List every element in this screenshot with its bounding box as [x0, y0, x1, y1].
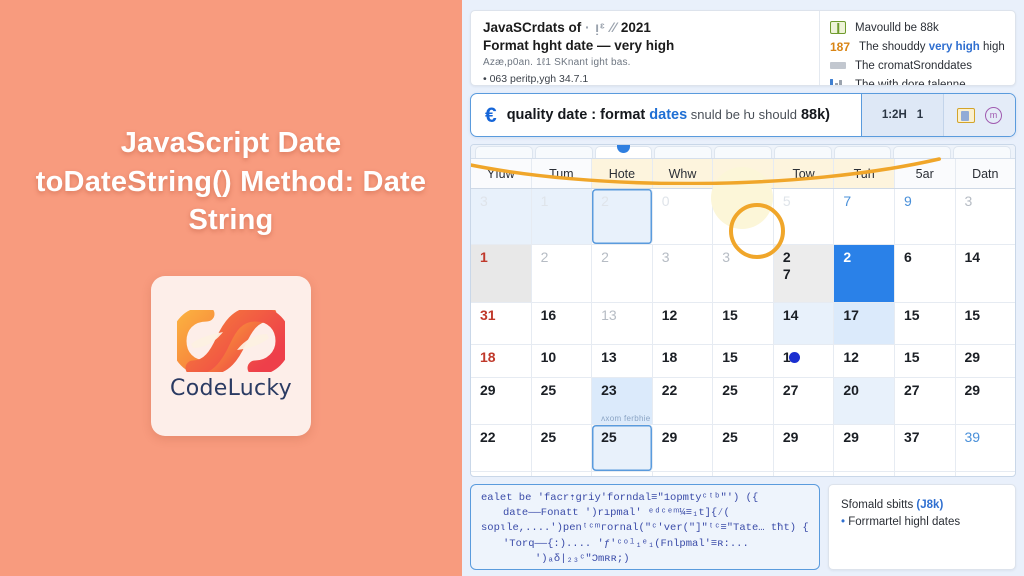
calendar-day-cell[interactable]: 17: [834, 303, 895, 344]
calendar-day-number: 2: [601, 193, 609, 209]
calendar-day-number: 13: [601, 349, 617, 365]
calendar-day-number: 18: [480, 349, 496, 365]
calendar-day-cell[interactable]: 2: [834, 245, 895, 302]
side-item-highlight: very high: [929, 41, 980, 53]
calendar-day-cell[interactable]: 25: [532, 425, 593, 471]
side-item-label: Mavoulld be 88k: [855, 22, 939, 34]
note-card-title: Sfomald sbitts (J8k): [841, 499, 1005, 511]
code-snippet-box[interactable]: ealet be 'facr⇡griy'forndal≡"1opmtyᶜᵗᵇ"'…: [470, 484, 820, 570]
calendar-day-number: 25: [722, 429, 738, 445]
side-list-item[interactable]: Mavoulld be 88k: [828, 19, 1009, 36]
side-item-label: The with dore talenne...: [855, 79, 975, 87]
calendar-day-cell[interactable]: 3: [471, 189, 532, 244]
calendar-day-number: 3: [662, 249, 670, 265]
top-card-meta: Azæ,p0an. 1ℓ1 SKnant ight bas.: [483, 57, 809, 68]
calendar-day-cell[interactable]: 29: [956, 345, 1016, 377]
calendar-day-cell[interactable]: 20: [653, 472, 714, 477]
code-line: ealet be 'facr⇡griy'forndal≡"1opmtyᶜᵗᵇ"'…: [481, 491, 809, 506]
side-item-label: The shouddy very high high: [859, 41, 1005, 53]
calendar-day-number: 39: [601, 476, 617, 477]
note-card: Sfomald sbitts (J8k) Forrmartel highl da…: [828, 484, 1016, 570]
calendar-day-cell[interactable]: 0: [653, 189, 714, 244]
note-title-text: Sfomald sbitts: [841, 499, 916, 511]
calendar-grid[interactable]: Yıuw Tum Hote Whw Now Tow Tuh 5ar Datn 3…: [470, 144, 1016, 477]
top-info-card: JavaSCrdats of · ᴉᵋ ⁄⁄ 2021 Format hght …: [470, 10, 1016, 86]
brand-logo-card: CodeLucky: [151, 276, 311, 436]
calendar-day-cell[interactable]: 2: [532, 245, 593, 302]
calendar-col-header[interactable]: Tow: [774, 159, 835, 188]
calendar-day-number: 3: [480, 193, 488, 209]
calendar-day-cell[interactable]: 8: [834, 472, 895, 477]
calendar-day-cell[interactable]: 25: [713, 378, 774, 424]
calendar-day-cell[interactable]: 29: [471, 378, 532, 424]
page-title: JavaScript Date toDateString() Method: D…: [31, 124, 431, 240]
calendar-day-cell[interactable]: 13: [592, 345, 653, 377]
note-title-count: (J8k): [916, 499, 943, 511]
calendar-day-cell[interactable]: 29: [956, 378, 1016, 424]
calendar-day-cell[interactable]: 7: [834, 189, 895, 244]
calendar-day-number: 29: [662, 429, 678, 445]
calendar-day-cell[interactable]: 3: [713, 245, 774, 302]
calendar-day-cell[interactable]: 2: [592, 189, 653, 244]
calendar-day-number: 8: [843, 476, 851, 477]
calendar-tab[interactable]: [774, 146, 832, 158]
query-actions[interactable]: [943, 94, 1015, 136]
calendar-day-cell[interactable]: 3: [956, 189, 1016, 244]
calendar-day-number: 15: [904, 349, 920, 365]
calendar-day-cell[interactable]: 25: [592, 425, 653, 471]
calendar-day-cell[interactable]: 27: [774, 378, 835, 424]
calendar-day-number: 13: [601, 307, 617, 323]
bar-chart-icon: [828, 77, 848, 86]
calendar-col-header[interactable]: Yıuw: [471, 159, 532, 188]
calendar-day-cell[interactable]: 23ʌxom ferbhie: [592, 378, 653, 424]
headline-year: 2021: [621, 20, 651, 35]
calendar-day-cell[interactable]: 39: [592, 472, 653, 477]
calendar-day-number-secondary: 7: [783, 266, 834, 282]
calendar-day-cell[interactable]: 1: [532, 189, 593, 244]
calendar-day-number: 16: [541, 307, 557, 323]
query-search-bar[interactable]: € quality date : format dates snuld be ƕ…: [470, 93, 1016, 137]
calendar-day-cell[interactable]: 37: [895, 425, 956, 471]
calendar-tab[interactable]: [654, 146, 712, 158]
note-card-item: Forrmartel highl dates: [841, 516, 1005, 528]
calendar-day-number: 37: [541, 476, 557, 477]
calendar-day-number: 29: [783, 429, 799, 445]
calendar-cell-note: ʌxom ferbhie: [601, 414, 652, 423]
calendar-day-cell[interactable]: 5: [774, 189, 835, 244]
top-card-headline: JavaSCrdats of · ᴉᵋ ⁄⁄ 2021: [483, 20, 809, 35]
calendar-day-cell[interactable]: 1: [471, 245, 532, 302]
query-text-a: quality date : format: [507, 107, 650, 123]
calendar-day-cell[interactable]: 10: [532, 345, 593, 377]
calendar-day-cell[interactable]: 29: [774, 425, 835, 471]
calendar-day-number: 14: [783, 307, 799, 323]
query-meta-left: 1:2H: [882, 109, 907, 121]
calendar-day-number: 29: [843, 429, 859, 445]
calendar-col-header[interactable]: Datn: [956, 159, 1016, 188]
calendar-day-number: 2: [541, 249, 549, 265]
calendar-day-number: 27: [783, 382, 799, 398]
left-title-panel: JavaScript Date toDateString() Method: D…: [0, 0, 462, 576]
yellow-blob-annotation-icon: [711, 167, 773, 229]
calendar-day-number: 15: [965, 307, 981, 323]
calendar-day-number: 9: [904, 193, 912, 209]
calendar-day-number: 6: [904, 249, 912, 265]
calendar-week-row: 303739203788: [471, 472, 1015, 477]
calendar-tab[interactable]: [714, 146, 772, 158]
query-meta: 1:2H 1: [861, 94, 943, 136]
calendar-day-number: 18: [662, 349, 678, 365]
headline-dim: · ᴉᵋ ⁄⁄: [585, 20, 617, 35]
calendar-day-number: 20: [843, 382, 859, 398]
calendar-week-row: 222525292529293739: [471, 425, 1015, 472]
calendar-day-cell[interactable]: 6: [895, 245, 956, 302]
calendar-day-number: 7: [843, 193, 851, 209]
calendar-day-number: 17: [843, 307, 859, 323]
calendar-day-cell[interactable]: 15: [713, 345, 774, 377]
calendar-day-number: 15: [722, 307, 738, 323]
calendar-day-number: 3: [722, 249, 730, 265]
calendar-day-number: 25: [722, 382, 738, 398]
side-item-label: The cromatSronddates: [855, 60, 972, 72]
calendar-day-cell[interactable]: 25: [532, 378, 593, 424]
calendar-day-number: 29: [965, 349, 981, 365]
green-gate-icon: [828, 20, 848, 35]
calendar-day-number: 10: [541, 349, 557, 365]
calendar-day-cell[interactable]: 15: [895, 345, 956, 377]
query-text-count: 88k): [797, 107, 830, 123]
calendar-day-number: 15: [904, 307, 920, 323]
calendar-day-number: 30: [480, 476, 496, 477]
calendar-tab[interactable]: [893, 146, 951, 158]
query-text-accent: dates: [649, 107, 687, 123]
calendar-day-number: 3: [965, 193, 973, 209]
top-card-summary: JavaSCrdats of · ᴉᵋ ⁄⁄ 2021 Format hght …: [471, 11, 819, 85]
calendar-day-cell[interactable]: 18: [653, 345, 714, 377]
calendar-day-number: 25: [541, 382, 557, 398]
calendar-week-row: 311613121514171515: [471, 303, 1015, 345]
calendar-col-header[interactable]: 5ar: [895, 159, 956, 188]
calendar-day-cell[interactable]: 13: [592, 303, 653, 344]
calendar-day-cell[interactable]: 15: [895, 303, 956, 344]
calendar-col-header[interactable]: Tum: [532, 159, 593, 188]
gray-bar-icon: [828, 58, 848, 73]
calendar-day-cell[interactable]: 12: [834, 345, 895, 377]
calendar-col-header[interactable]: Whw: [653, 159, 714, 188]
query-text-muted: snuld be ƕ should: [687, 107, 797, 122]
top-card-bullet: • 063 peritp,ygh 34.7.1: [483, 73, 809, 85]
calendar-day-cell[interactable]: 15: [713, 303, 774, 344]
calendar-day-number: 25: [601, 429, 617, 445]
calendar-day-cell[interactable]: 39: [956, 425, 1016, 471]
code-line: date——Fonatt ')rıpmal' ᵉᵈᶜᵉᵐ¼≡₁t]{∕(: [481, 506, 809, 521]
calendar-day-number: 29: [480, 382, 496, 398]
calendar-day-number: 14: [965, 249, 981, 265]
bottom-strip: ealet be 'facr⇡griy'forndal≡"1opmtyᶜᵗᵇ"'…: [470, 484, 1016, 570]
code-line: 'Torq——{:).... 'ƒ'ᶜᵒˡ₁ᵉ₁(Fnlpmal'≡ʀ:...: [481, 537, 809, 552]
top-card-subhead: Format hght date — very high: [483, 38, 809, 53]
query-text: quality date : format dates snuld be ƕ s…: [507, 107, 830, 123]
side-list-item[interactable]: The with dore talenne...: [828, 76, 1009, 86]
side-list-item[interactable]: The cromatSronddates: [828, 57, 1009, 74]
calendar-day-cell[interactable]: 29: [653, 425, 714, 471]
calendar-tab[interactable]: [953, 146, 1011, 158]
calendar-tab-strip[interactable]: [471, 145, 1015, 159]
calendar-day-number: 0: [662, 193, 670, 209]
query-input-area[interactable]: € quality date : format dates snuld be ƕ…: [471, 94, 861, 136]
calendar-week-row: 12233272614: [471, 245, 1015, 303]
brand-name: CodeLucky: [170, 376, 292, 401]
calendar-day-cell[interactable]: 25: [713, 425, 774, 471]
purple-circle-icon[interactable]: [985, 107, 1002, 124]
calendar-day-cell[interactable]: 31: [471, 303, 532, 344]
calendar-day-cell[interactable]: 2: [592, 245, 653, 302]
calendar-day-number: 2: [783, 249, 791, 265]
calendar-tab[interactable]: [834, 146, 892, 158]
calendar-day-number: 29: [965, 382, 981, 398]
calendar-day-cell[interactable]: 22: [471, 425, 532, 471]
code-line: ')ₐδ|₂₃ᶜ"Ɔmʀʀ;): [481, 552, 809, 567]
infinity-leaf-logo-icon: [177, 310, 285, 372]
calendar-week-row: 292523ʌxom ferbhie222527202729: [471, 378, 1015, 425]
calendar-day-number: 20: [662, 476, 678, 477]
calendar-day-number: 5: [783, 193, 791, 209]
calendar-body: 3120457931223327261431161312151417151518…: [471, 189, 1015, 477]
euro-glyph-icon: €: [485, 105, 497, 126]
calendar-day-number: 2: [843, 249, 851, 265]
calendar-day-cell[interactable]: 20: [834, 378, 895, 424]
calendar-day-number: 22: [662, 382, 678, 398]
calendar-day-cell[interactable]: 1: [774, 345, 835, 377]
calendar-day-cell[interactable]: 30: [471, 472, 532, 477]
calendar-day-number: 31: [480, 307, 496, 323]
calendar-day-number: 39: [965, 429, 981, 445]
calendar-day-cell[interactable]: 12: [653, 303, 714, 344]
calendar-day-cell[interactable]: 18: [471, 345, 532, 377]
calendar-week-row: 18101318151121529: [471, 345, 1015, 378]
calendar-day-cell[interactable]: [895, 472, 956, 477]
calendar-day-number: 15: [722, 349, 738, 365]
calendar-day-cell[interactable]: 27: [895, 378, 956, 424]
headline-prefix: JavaSCrdats of: [483, 20, 581, 35]
calendar-day-number: 1: [480, 249, 488, 265]
calendar-day-number: 22: [480, 429, 496, 445]
calendar-day-number: 2: [601, 249, 609, 265]
calendar-day-number: 37: [722, 476, 738, 477]
calendar-day-number: 1: [541, 193, 549, 209]
calendar-col-header[interactable]: Tuh: [834, 159, 895, 188]
count-badge: 187: [828, 40, 852, 54]
gold-window-icon[interactable]: [957, 108, 975, 123]
calendar-day-cell[interactable]: 37: [713, 472, 774, 477]
calendar-day-number: 12: [843, 349, 859, 365]
calendar-day-cell[interactable]: 3: [653, 245, 714, 302]
code-line: sopɩle,....')penᵗᶜᵐгornal("ᶜ'ver("]"ᵗᶜ≡"…: [481, 521, 809, 536]
calendar-day-cell[interactable]: 22: [653, 378, 714, 424]
top-card-side-list: Mavoulld be 88k 187 The shouddy very hig…: [819, 11, 1015, 85]
right-content-panel: JavaSCrdats of · ᴉᵋ ⁄⁄ 2021 Format hght …: [462, 0, 1024, 576]
calendar-tab[interactable]: [535, 146, 593, 158]
calendar-day-number: 23: [601, 382, 617, 398]
calendar-day-number: 12: [662, 307, 678, 323]
calendar-day-cell[interactable]: 15: [956, 303, 1016, 344]
side-list-item[interactable]: 187 The shouddy very high high: [828, 38, 1009, 55]
calendar-day-cell[interactable]: 37: [532, 472, 593, 477]
calendar-day-number: 37: [904, 429, 920, 445]
query-meta-right: 1: [917, 109, 923, 121]
calendar-day-cell[interactable]: 9: [895, 189, 956, 244]
calendar-col-header[interactable]: Hote: [592, 159, 653, 188]
calendar-day-cell[interactable]: 8: [774, 472, 835, 477]
calendar-day-cell[interactable]: 27: [774, 245, 835, 302]
calendar-tab[interactable]: [475, 146, 533, 158]
calendar-day-number: 25: [541, 429, 557, 445]
calendar-day-number: 8: [783, 476, 791, 477]
calendar-day-cell[interactable]: 29: [834, 425, 895, 471]
screenshot-root: JavaScript Date toDateString() Method: D…: [0, 0, 1024, 576]
event-dot-icon: [789, 352, 800, 363]
calendar-day-cell[interactable]: 14: [774, 303, 835, 344]
calendar-day-cell[interactable]: [956, 472, 1016, 477]
calendar-day-number: 27: [904, 382, 920, 398]
calendar-day-cell[interactable]: 14: [956, 245, 1016, 302]
calendar-day-cell[interactable]: 16: [532, 303, 593, 344]
